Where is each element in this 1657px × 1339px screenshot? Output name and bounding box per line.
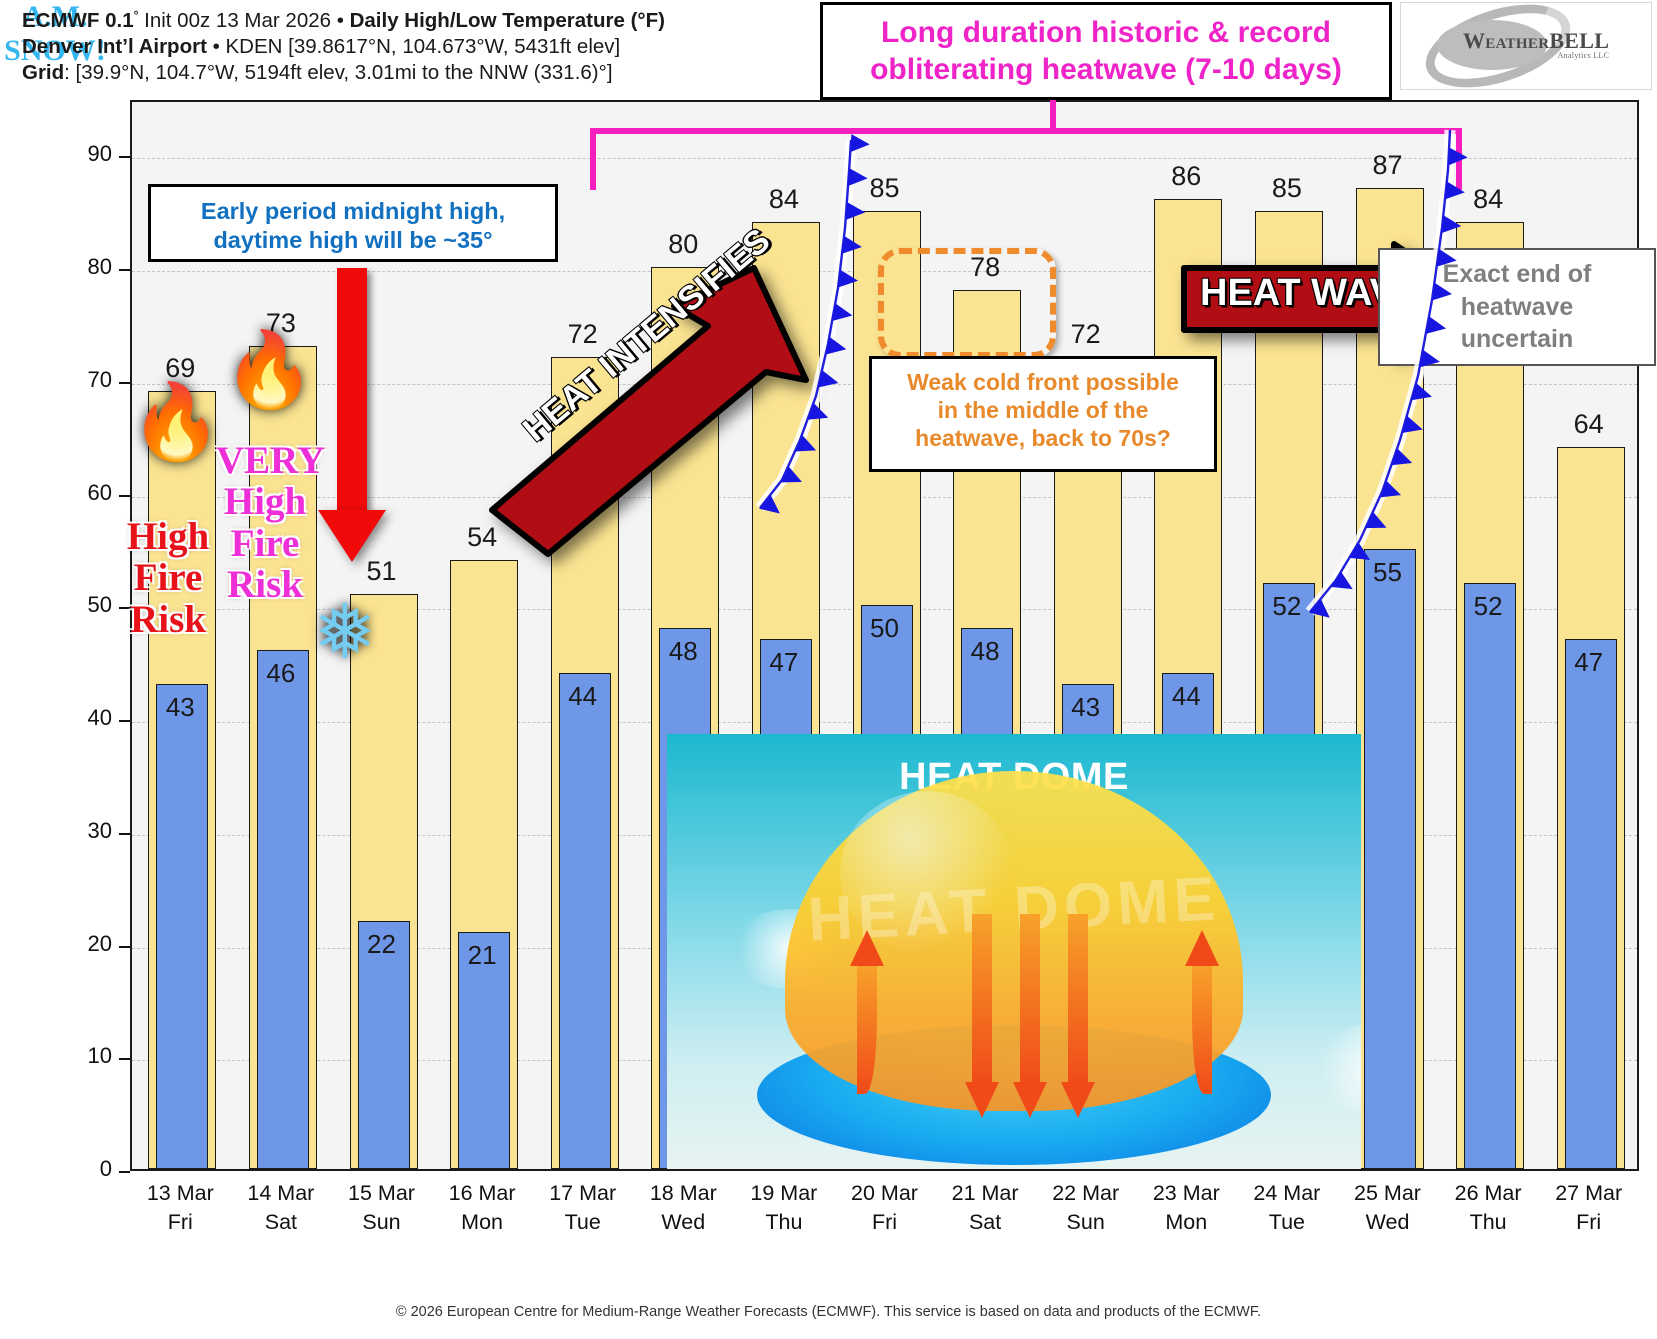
snowflake-icon: ❅ bbox=[313, 595, 377, 671]
value-label-low: 55 bbox=[1348, 557, 1428, 588]
y-tick-mark-20 bbox=[119, 946, 130, 948]
value-label-low: 47 bbox=[744, 647, 824, 678]
heat-dome-down-arrow-head bbox=[1061, 1082, 1095, 1118]
y-tick-mark-80 bbox=[119, 269, 130, 271]
x-axis-weekday: Fri bbox=[1529, 1208, 1649, 1237]
heat-dome-illustration: HEAT DOMEHEAT DOME bbox=[667, 734, 1361, 1171]
annotation-midnight-high-line2: daytime high will be ~35° bbox=[151, 226, 555, 255]
y-tick-label-20: 20 bbox=[48, 931, 112, 957]
heat-dome-down-arrow-head bbox=[1013, 1082, 1047, 1118]
bar-low bbox=[1464, 583, 1516, 1169]
fire-icon: 🔥 bbox=[130, 385, 222, 459]
heat-dome-down-arrow-shaft bbox=[1020, 914, 1040, 1084]
chart-footer: © 2026 European Centre for Medium-Range … bbox=[0, 1304, 1657, 1320]
y-tick-label-10: 10 bbox=[48, 1043, 112, 1069]
y-tick-mark-70 bbox=[119, 382, 130, 384]
annotation-heatwave-end: Exact end of heatwave uncertain bbox=[1378, 248, 1656, 366]
heatwave-bracket-left-cap bbox=[590, 128, 596, 190]
fire-risk-day1-line2: Fire bbox=[122, 557, 214, 598]
bar-low bbox=[1364, 549, 1416, 1169]
annotation-heatwave-end-line2: heatwave bbox=[1380, 291, 1654, 324]
y-tick-mark-90 bbox=[119, 156, 130, 158]
annotation-cold-front-line1: Weak cold front possible bbox=[872, 368, 1214, 396]
value-label-high: 64 bbox=[1539, 409, 1639, 440]
value-label-low: 52 bbox=[1448, 591, 1528, 622]
bar-low bbox=[1565, 639, 1617, 1169]
midnight-high-arrow-shaft bbox=[337, 268, 367, 516]
cloud-icon bbox=[1307, 1024, 1361, 1114]
annotation-weak-cold-front: Weak cold front possible in the middle o… bbox=[869, 356, 1217, 472]
annotation-heatwave-duration: Long duration historic & record oblitera… bbox=[820, 2, 1392, 100]
value-label-low: 43 bbox=[140, 692, 220, 723]
y-tick-mark-40 bbox=[119, 720, 130, 722]
value-label-low: 21 bbox=[442, 940, 522, 971]
heatwave-bracket-right-cap bbox=[1456, 128, 1462, 190]
heat-dome-up-arrow-head bbox=[1185, 930, 1219, 966]
fire-risk-day2-line1: High bbox=[216, 481, 314, 522]
bar-low bbox=[156, 684, 208, 1169]
heatwave-bracket-horizontal bbox=[590, 128, 1462, 134]
y-tick-mark-10 bbox=[119, 1058, 130, 1060]
annotation-midnight-high-line1: Early period midnight high, bbox=[151, 197, 555, 226]
annotation-heatwave-end-line3: uncertain bbox=[1380, 323, 1654, 356]
value-label-high: 85 bbox=[835, 173, 935, 204]
annotation-heatwave-duration-line2: obliterating heatwave (7-10 days) bbox=[823, 52, 1389, 89]
header-grid-label: Grid bbox=[22, 61, 64, 84]
heat-dome-up-arrow-head bbox=[850, 930, 884, 966]
weatherbell-logo: WeatherBELL Analytics LLC bbox=[1400, 2, 1652, 90]
value-label-high: 87 bbox=[1338, 150, 1438, 181]
annotation-heatwave-end-line1: Exact end of bbox=[1380, 258, 1654, 291]
chart-header: ECMWF 0.1° Init 00z 13 Mar 2026 • Daily … bbox=[22, 8, 842, 87]
annotation-midnight-high: Early period midnight high, daytime high… bbox=[148, 184, 558, 262]
y-tick-label-40: 40 bbox=[48, 705, 112, 731]
value-label-low: 47 bbox=[1549, 647, 1629, 678]
value-label-low: 22 bbox=[342, 929, 422, 960]
fire-risk-label-day1: High Fire Risk bbox=[122, 516, 214, 640]
header-station-meta: • KDEN [39.8617°N, 104.673°W, 5431ft ele… bbox=[207, 35, 620, 58]
y-tick-label-60: 60 bbox=[48, 480, 112, 506]
y-tick-label-50: 50 bbox=[48, 592, 112, 618]
header-station: Denver Int’l Airport bbox=[22, 35, 207, 58]
header-init: Init 00z 13 Mar 2026 • bbox=[138, 9, 349, 32]
y-tick-mark-60 bbox=[119, 495, 130, 497]
value-label-low: 44 bbox=[1146, 681, 1226, 712]
y-tick-mark-30 bbox=[119, 833, 130, 835]
fire-risk-day2-line2: Fire bbox=[216, 523, 314, 564]
bar-low bbox=[257, 650, 309, 1169]
heat-dome-down-arrow-head bbox=[965, 1082, 999, 1118]
midnight-high-arrow-head bbox=[318, 510, 386, 562]
header-line-2: Denver Int’l Airport • KDEN [39.8617°N, … bbox=[22, 34, 842, 60]
value-label-high: 84 bbox=[734, 184, 834, 215]
bar-low bbox=[559, 673, 611, 1169]
y-tick-label-70: 70 bbox=[48, 367, 112, 393]
header-product: Daily High/Low Temperature (°F) bbox=[350, 9, 665, 32]
fire-risk-day1-line3: Risk bbox=[122, 599, 214, 640]
y-tick-label-90: 90 bbox=[48, 141, 112, 167]
value-label-high: 86 bbox=[1136, 161, 1236, 192]
y-tick-label-0: 0 bbox=[48, 1156, 112, 1182]
heat-dome-down-arrow-shaft bbox=[972, 914, 992, 1084]
value-label-low: 52 bbox=[1247, 591, 1327, 622]
value-label-low: 50 bbox=[845, 613, 925, 644]
x-axis-date: 27 Mar bbox=[1529, 1179, 1649, 1208]
fire-risk-label-day2: VERY High Fire Risk bbox=[216, 440, 314, 605]
y-tick-label-30: 30 bbox=[48, 818, 112, 844]
heat-dome-down-arrow-shaft bbox=[1068, 914, 1088, 1084]
annotation-cold-front-line2: in the middle of the bbox=[872, 396, 1214, 424]
annotation-heatwave-duration-line1: Long duration historic & record bbox=[823, 15, 1389, 52]
header-line-1: ECMWF 0.1° Init 00z 13 Mar 2026 • Daily … bbox=[22, 8, 842, 34]
value-label-low: 44 bbox=[543, 681, 623, 712]
header-grid-meta: : [39.9°N, 104.7°W, 5194ft elev, 3.01mi … bbox=[64, 61, 612, 84]
fire-risk-day2-line3: Risk bbox=[216, 564, 314, 605]
cold-front-highlight bbox=[878, 248, 1056, 358]
fire-risk-day1-line1: High bbox=[122, 516, 214, 557]
value-label-high: 85 bbox=[1237, 173, 1337, 204]
heatwave-bracket-stem bbox=[1050, 100, 1056, 132]
value-label-low: 46 bbox=[241, 658, 321, 689]
value-label-low: 43 bbox=[1046, 692, 1126, 723]
fire-icon-very-high: 🔥 bbox=[223, 333, 315, 407]
y-tick-mark-0 bbox=[119, 1171, 130, 1173]
x-axis-label: 27 MarFri bbox=[1529, 1179, 1649, 1237]
value-label-low: 48 bbox=[643, 636, 723, 667]
header-line-3: Grid: [39.9°N, 104.7°W, 5194ft elev, 3.0… bbox=[22, 60, 842, 86]
fire-risk-day2-line0: VERY bbox=[216, 440, 314, 481]
value-label-high: 84 bbox=[1438, 184, 1538, 215]
header-model: ECMWF 0.1 bbox=[22, 9, 134, 32]
y-tick-label-80: 80 bbox=[48, 254, 112, 280]
value-label-low: 48 bbox=[945, 636, 1025, 667]
annotation-cold-front-line3: heatwave, back to 70s? bbox=[872, 424, 1214, 452]
